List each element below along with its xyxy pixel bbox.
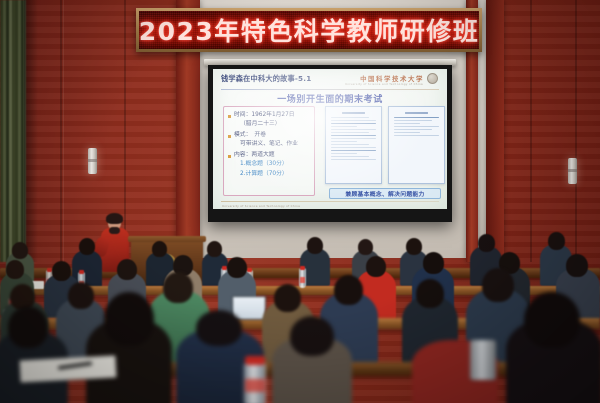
wall-highlight-1 [63,0,64,262]
attendee-head [52,261,71,281]
attendee-head [6,260,24,279]
attendee-head [423,252,444,274]
slide-document-images [325,106,445,184]
attendee-head [358,239,373,255]
doc-line [394,126,439,127]
attendee-head [366,256,386,277]
water-bottle [299,268,306,288]
doc-line [331,126,357,127]
doc-line [394,129,432,130]
attendee-head [163,272,193,303]
bullet-square-icon [228,155,231,158]
score-item-concept: 1.概念题（30分） [240,161,310,169]
wall-light-sconce-right [568,158,577,184]
doc-line [331,147,376,148]
attendee-head [117,259,137,280]
doc-line [331,159,376,160]
bullet-time-label: 时间：1962年1月27日 [234,112,295,119]
exam-document-scan-left [325,106,382,184]
bottle-label [245,379,265,392]
slide-footer-text: University of Science and Technology of … [222,204,300,208]
bullet-mode-highlight: 开卷 [254,132,266,139]
bottle-cap [79,270,84,274]
laptop-screen [233,297,265,319]
attendee-head [79,238,95,255]
doc-line [405,112,428,114]
wall-groove-1 [60,0,62,262]
bullet-content-label: 内容：两道大题 [234,152,275,159]
attendee-head [524,292,580,348]
curtain-shadow [24,0,38,262]
wall-light-sconce-left [88,148,97,174]
bullet-item-time: 时间：1962年1月27日 [228,112,310,119]
slide-footer-rule [221,201,439,202]
doc-line [394,132,420,133]
slide-subtitle: 一场别开生面的期末考试 [213,92,447,105]
attendee-head [207,241,222,257]
attendee-head [307,237,323,254]
attendee-head [478,234,495,252]
attendee-head [566,254,588,277]
wall-groove-4 [575,0,577,262]
doc-line [331,150,376,151]
doc-line [331,129,376,130]
doc-line [342,112,365,114]
doc-line [394,120,432,121]
attendee-head [334,275,363,305]
bullet-time-sub: （腊月二十三） [240,121,310,129]
pillar-far-right [486,0,504,262]
led-banner-screen: 2023年特色科学教师研修班 [139,11,479,49]
bullet-square-icon [228,135,231,138]
attendee-head [152,241,167,257]
attendee-head [104,292,154,346]
bottle-cap [300,266,305,270]
doc-line [331,123,376,124]
doc-line [331,153,357,154]
doc-line [331,117,369,118]
exam-document-scan-right [388,106,445,184]
attendee-head [274,284,301,312]
water-bottle-foreground [244,362,266,403]
university-logo-text: 中国科学技术大学 [360,74,424,83]
bottle-cap [245,356,265,365]
slide-header-rule [221,89,439,90]
presentation-slide: 钱学森在中科大的故事-5.1 中国科学技术大学 University of Sc… [213,69,447,209]
doc-line [331,120,376,121]
slide-caption: 兼顾基本概念、解决问题能力 [329,188,441,199]
bottle-cap [247,268,252,272]
slide-bullet-box: 时间：1962年1月27日 （腊月二十三） 模式： 开卷 可带讲义、笔记、作业 … [223,106,315,196]
doc-line [394,123,420,124]
score-item-calculation: 2.计算题（70分） [240,171,310,179]
doc-line [331,135,376,136]
doc-line [331,132,369,133]
university-logo-subtext: University of Science and Technology of … [345,83,423,86]
attendee-head [290,316,334,356]
bullet-square-icon [228,115,231,118]
attendee-head [8,306,48,348]
attendee-head [227,257,247,278]
attendee-head [416,279,444,308]
doc-line [331,138,376,139]
doc-line [331,144,369,145]
window-curtain [0,0,26,262]
doc-line [331,156,369,157]
attendee-head [68,282,94,309]
bullet-mode-label: 模式： [234,132,251,139]
attendee-head [196,310,242,346]
lectern-top [128,236,206,242]
presenter-collar [109,227,120,234]
attendee-head [548,232,565,250]
conference-photo: 2023年特色科学教师研修班 钱学森在中科大的故事-5.1 中国科学技术大学 U… [0,0,600,403]
doc-line [394,117,439,118]
doc-line [394,135,439,136]
presenter-hair [106,213,123,224]
attendee-head [406,238,422,255]
bullet-mode-sub: 可带讲义、笔记、作业 [240,141,310,149]
wall-groove-3 [530,0,532,262]
led-banner-text: 2023年特色科学教师研修班 [139,12,479,48]
bullet-item-content: 内容：两道大题 [228,152,310,159]
bullet-item-mode: 模式： 开卷 [228,132,310,139]
doc-line [331,141,357,142]
thermos-bottle [470,340,496,380]
led-banner: 2023年特色科学教师研修班 [136,8,482,52]
bottle-label [300,277,305,283]
projection-screen: 钱学森在中科大的故事-5.1 中国科学技术大学 University of Sc… [208,65,452,222]
attendee-head [482,268,514,302]
university-seal-icon [427,73,438,84]
attendee-head [12,242,28,259]
